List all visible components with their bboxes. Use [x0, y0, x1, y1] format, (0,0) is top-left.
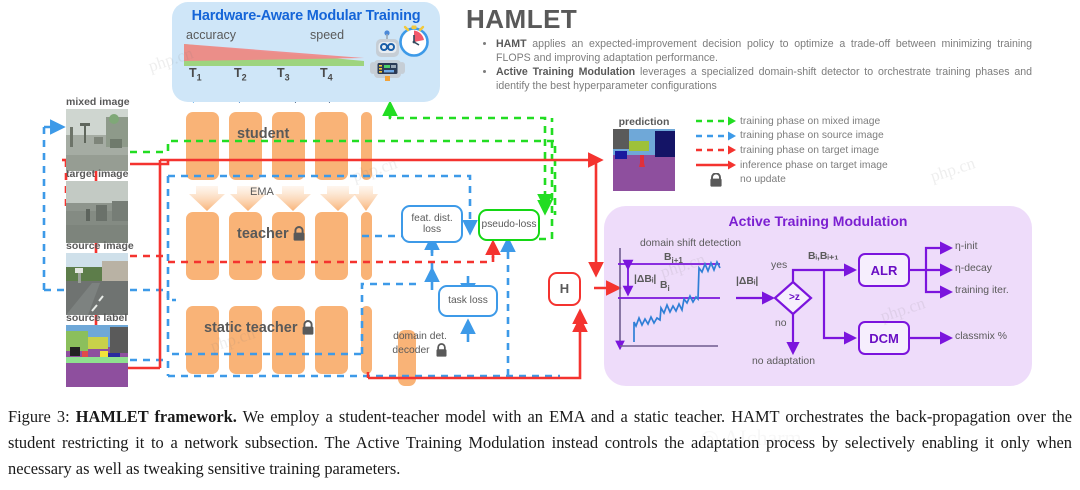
image-caption: target image — [66, 168, 128, 180]
b-next-label: Bi+1 — [664, 252, 683, 265]
dashed-arrow-icon — [694, 129, 740, 143]
hardware-aware-modular-training-panel: Hardware-Aware Modular Training accuracy… — [172, 2, 440, 102]
legend-row-inference: inference phase on target image — [694, 158, 1040, 173]
image-caption: source image — [66, 240, 134, 252]
row-label-text: teacher — [237, 226, 289, 242]
domain-decoder-line1: domain det. — [372, 330, 468, 343]
mixed-image-block: mixed image — [66, 96, 130, 171]
teacher-block-1 — [186, 212, 219, 280]
row-label-text: static teacher — [204, 320, 298, 336]
figure-caption: Figure 3: HAMLET framework. We employ a … — [8, 404, 1072, 482]
student-head — [361, 112, 372, 180]
student-block-2 — [229, 112, 262, 180]
static-teacher-block-4 — [315, 306, 348, 374]
legend-row-source: training phase on source image — [694, 129, 1040, 144]
output-training-iter: training iter. — [955, 285, 1009, 296]
feat-dist-line2: loss — [423, 224, 441, 235]
legend: training phase on mixed image training p… — [694, 114, 1040, 187]
dashed-arrow-icon — [694, 114, 740, 128]
task-loss-label: task loss — [448, 295, 488, 307]
lock-icon — [435, 343, 448, 358]
tick-label-t2: T2 — [234, 66, 247, 83]
h-label: H — [560, 283, 569, 295]
static-teacher-block-1 — [186, 306, 219, 374]
teacher-block-2 — [229, 212, 262, 280]
teacher-block-4 — [315, 212, 348, 280]
legend-label: no update — [740, 174, 786, 185]
source-label-block: source label — [66, 312, 128, 387]
static-teacher-row-label: static teacher — [204, 320, 315, 336]
ema-label: EMA — [250, 186, 274, 198]
prediction-thumbnail — [610, 129, 678, 191]
accuracy-label: accuracy — [186, 28, 236, 42]
mixed-image-thumbnail — [66, 109, 128, 171]
no-label: no — [775, 318, 787, 329]
list-item: Active Training Modulation leverages a s… — [496, 66, 1032, 93]
caption-bold-title: HAMLET framework. — [76, 407, 237, 426]
prediction-caption: prediction — [610, 116, 678, 128]
robot-icon — [368, 20, 430, 96]
static-teacher-block-3 — [272, 306, 305, 374]
source-image-thumbnail — [66, 253, 128, 315]
legend-label: training phase on source image — [740, 130, 884, 141]
solid-arrow-icon — [694, 158, 740, 172]
legend-row-mixed: training phase on mixed image — [694, 114, 1040, 129]
accuracy-speed-tradeoff-triangles — [184, 44, 364, 66]
dcm-label: DCM — [869, 331, 899, 346]
h-box: H — [548, 272, 581, 306]
figure-number: Figure 3: — [8, 407, 70, 426]
image-caption: source label — [66, 312, 128, 324]
figure-root: Hardware-Aware Modular Training accuracy… — [0, 0, 1080, 490]
task-loss-box: task loss — [438, 285, 498, 317]
bullet-lead: Active Training Modulation — [496, 66, 635, 78]
yes-label: yes — [771, 260, 787, 271]
tick-label-t1: T1 — [189, 66, 202, 83]
source-label-thumbnail — [66, 325, 128, 387]
delta-b-left-label: |ΔBᵢ| — [634, 274, 656, 285]
legend-label: training phase on mixed image — [740, 116, 880, 127]
carry-b-label: Bᵢ,Bᵢ₊₁ — [808, 250, 839, 262]
domain-det-decoder-label: domain det. decoder — [372, 330, 468, 358]
bullet-text: applies an expected-improvement decision… — [496, 38, 1032, 64]
lock-icon — [694, 173, 740, 187]
legend-row-target: training phase on target image — [694, 143, 1040, 158]
delta-b-right-label: |ΔBᵢ| — [736, 276, 758, 287]
teacher-head — [361, 212, 372, 280]
pseudo-loss-box: pseudo-loss — [478, 209, 540, 241]
domain-decoder-line2: decoder — [392, 344, 429, 357]
target-image-block: target image — [66, 168, 128, 243]
bullet-lead: HAMT — [496, 38, 527, 50]
alr-label: ALR — [871, 263, 898, 278]
student-block-4 — [315, 112, 348, 180]
row-label-text: student — [237, 126, 289, 142]
no-adaptation-label: no adaptation — [752, 356, 815, 367]
student-block-1 — [186, 112, 219, 180]
b-current-label: Bi — [660, 280, 670, 293]
decision-threshold-label: >z — [789, 292, 800, 303]
static-teacher-block-2 — [229, 306, 262, 374]
tick-label-t4: T4 — [320, 66, 333, 83]
source-image-block: source image — [66, 240, 134, 315]
static-teacher-head — [361, 306, 372, 374]
list-item: HAMT applies an expected-improvement dec… — [496, 38, 1032, 65]
image-caption: mixed image — [66, 96, 130, 108]
feat-dist-loss-box: feat. dist. loss — [401, 205, 463, 243]
atm-panel-title: Active Training Modulation — [604, 213, 1032, 229]
target-image-thumbnail — [66, 181, 128, 243]
legend-row-no-update: no update — [694, 172, 1040, 187]
active-training-modulation-panel: Active Training Modulation — [604, 206, 1032, 386]
alr-box: ALR — [858, 253, 910, 287]
watermark: php.cn — [350, 153, 400, 186]
legend-label: training phase on target image — [740, 145, 879, 156]
output-eta-decay: η-decay — [955, 263, 992, 274]
output-classmix: classmix % — [955, 331, 1007, 342]
lock-icon — [292, 226, 306, 242]
legend-label: inference phase on target image — [740, 160, 888, 171]
page-title: HAMLET — [466, 4, 577, 35]
lock-icon — [301, 320, 315, 336]
dcm-box: DCM — [858, 321, 910, 355]
student-block-3 — [272, 112, 305, 180]
teacher-row-label: teacher — [237, 226, 306, 242]
speed-label: speed — [310, 28, 344, 42]
dashed-arrow-icon — [694, 143, 740, 157]
prediction-block: prediction — [610, 116, 678, 191]
teacher-block-3 — [272, 212, 305, 280]
tick-label-t3: T3 — [277, 66, 290, 83]
feat-dist-line1: feat. dist. — [411, 213, 452, 224]
output-eta-init: η-init — [955, 241, 978, 252]
student-row-label: student — [237, 126, 289, 142]
domain-shift-detection-label: domain shift detection — [640, 238, 741, 249]
hamlet-bullet-list: HAMT applies an expected-improvement dec… — [480, 38, 1032, 94]
pseudo-loss-label: pseudo-loss — [482, 219, 537, 231]
